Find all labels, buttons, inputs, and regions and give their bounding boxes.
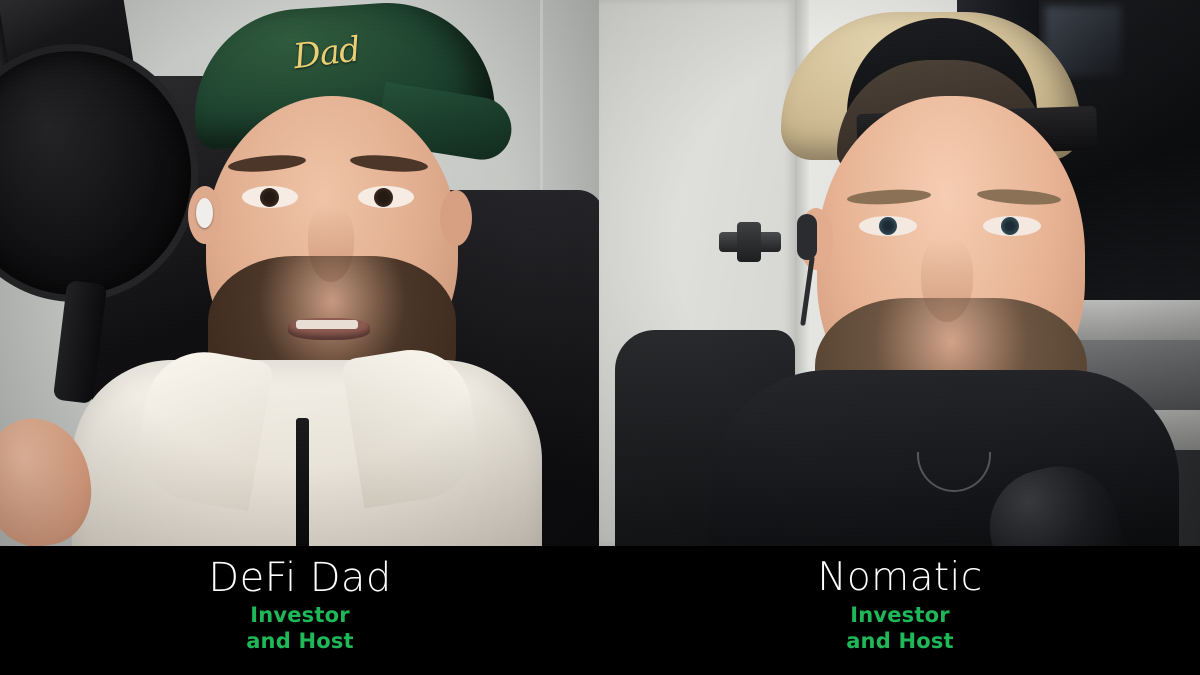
jacket-zipper: [296, 418, 309, 546]
caption-bar: DeFi Dad Investor and Host Nomatic Inves…: [0, 546, 1200, 675]
door-escutcheon: [737, 222, 761, 262]
video-call-stage: Dad: [0, 0, 1200, 675]
right-participant-right-eye: [983, 216, 1041, 236]
right-ear: [440, 190, 472, 246]
speaker-role-left-line1: Investor: [250, 602, 350, 628]
speaker-caption-right: Nomatic Investor and Host: [600, 546, 1200, 675]
speaker-name-right: Nomatic: [817, 554, 982, 602]
speaker-role-right-line2: and Host: [846, 628, 954, 654]
left-eye: [242, 186, 298, 208]
behind-ear-earphone-icon: [797, 214, 817, 260]
participant-tile-right[interactable]: [599, 0, 1200, 546]
speaker-caption-left: DeFi Dad Investor and Host: [0, 546, 600, 675]
right-participant-left-eye: [859, 216, 917, 236]
right-eye: [358, 186, 414, 208]
participant-tile-left[interactable]: Dad: [0, 0, 599, 546]
video-grid: Dad: [0, 0, 1200, 546]
teeth: [296, 320, 358, 329]
speaker-role-left-line2: and Host: [246, 628, 354, 654]
speaker-role-right-line1: Investor: [850, 602, 950, 628]
wireless-earbud-icon: [196, 198, 213, 228]
speaker-name-left: DeFi Dad: [208, 554, 391, 602]
